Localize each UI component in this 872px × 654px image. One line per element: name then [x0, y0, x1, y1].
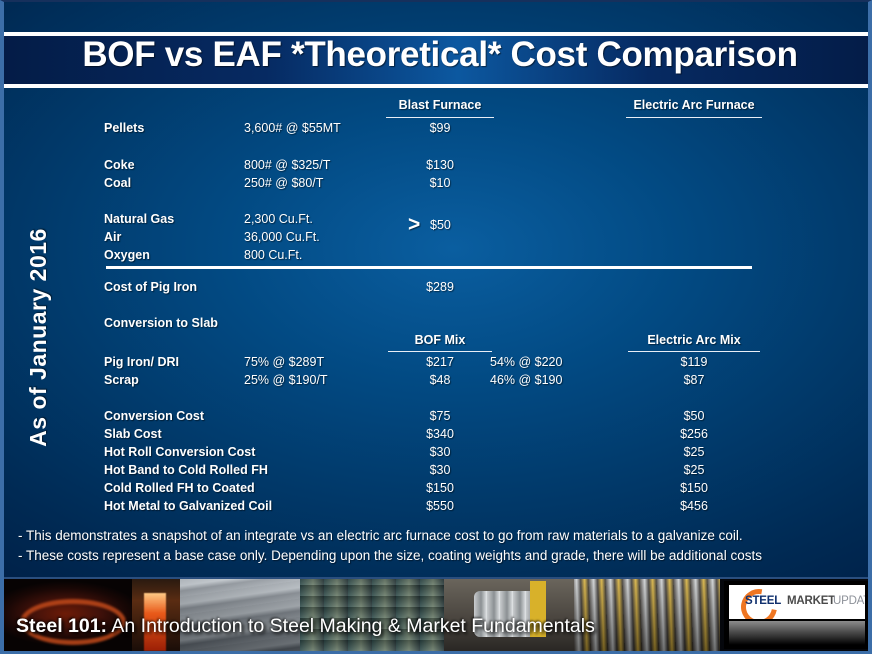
row-eaf-value: $150 — [629, 481, 759, 495]
footnote-2: - These costs represent a base case only… — [18, 546, 868, 566]
table-row: Slab Cost $340 $256 — [4, 427, 872, 445]
row-bf-value: $48 — [376, 373, 504, 387]
row-eaf-value: $456 — [629, 499, 759, 513]
row-mid-value: 54% @ $220 — [490, 355, 630, 369]
logo-plate: STEEL MARKET UPDATE — [729, 585, 865, 619]
row-item: Pellets — [104, 121, 254, 135]
banner-title-bold: Steel 101: — [16, 615, 107, 637]
table-row: Scrap 25% @ $190/T $48 46% @ $190 $87 — [4, 373, 872, 391]
underline-bof-mix — [388, 351, 492, 352]
page-title: BOF vs EAF *Theoretical* Cost Comparison — [4, 35, 872, 75]
row-item: Coke — [104, 158, 254, 172]
logo-word-steel: STEEL — [745, 595, 781, 607]
table-row: Hot Band to Cold Rolled FH $30 $25 — [4, 463, 872, 481]
row-item: Coal — [104, 176, 254, 190]
underline-electric-arc-mix — [628, 351, 760, 352]
row-spec: 800 Cu.Ft. — [244, 248, 404, 262]
row-item: Conversion to Slab — [104, 316, 254, 330]
table-row: Cold Rolled FH to Coated $150 $150 — [4, 481, 872, 499]
table-row: Hot Metal to Galvanized Coil $550 $456 — [4, 499, 872, 517]
row-item: Air — [104, 230, 254, 244]
footnotes: - This demonstrates a snapshot of an int… — [18, 526, 868, 566]
row-item: Slab Cost — [104, 427, 254, 441]
footnote-1: - This demonstrates a snapshot of an int… — [18, 526, 868, 546]
table-row: Air 36,000 Cu.Ft. — [4, 230, 872, 248]
row-eaf-value: $25 — [629, 463, 759, 477]
row-item: Hot Roll Conversion Cost — [104, 445, 254, 459]
underline-electric-arc-furnace — [626, 117, 762, 118]
row-item: Scrap — [104, 373, 254, 387]
table-row: Oxygen 800 Cu.Ft. — [4, 248, 872, 266]
row-item: Hot Band to Cold Rolled FH — [104, 463, 254, 477]
row-eaf-value: $119 — [629, 355, 759, 369]
slide-title-band: BOF vs EAF *Theoretical* Cost Comparison — [4, 32, 872, 88]
row-bf-value: $289 — [376, 280, 504, 294]
row-bf-value: $150 — [376, 481, 504, 495]
group-brace-icon: > — [408, 214, 420, 235]
row-eaf-value: $87 — [629, 373, 759, 387]
col-header-blast-furnace: Blast Furnace — [376, 98, 504, 112]
row-item: Natural Gas — [104, 212, 254, 226]
logo-word-market: MARKET — [787, 595, 835, 607]
row-bf-value: $75 — [376, 409, 504, 423]
banner-image-rebar — [574, 579, 720, 651]
row-eaf-value: $50 — [629, 409, 759, 423]
row-item: Cost of Pig Iron — [104, 280, 254, 294]
gas-group-value: $50 — [430, 218, 451, 232]
banner-title: Steel 101: An Introduction to Steel Maki… — [16, 615, 595, 638]
slide-canvas: BOF vs EAF *Theoretical* Cost Comparison… — [0, 0, 872, 654]
table-row: Conversion to Slab — [4, 316, 872, 334]
table-row: Coke 800# @ $325/T $130 — [4, 158, 872, 176]
row-item: Cold Rolled FH to Coated — [104, 481, 254, 495]
logo-word-update: UPDATE — [833, 595, 865, 607]
cost-comparison-table: Blast Furnace Electric Arc Furnace Pelle… — [4, 88, 872, 518]
row-bf-value: $10 — [376, 176, 504, 190]
row-bf-value: $340 — [376, 427, 504, 441]
row-spec: 36,000 Cu.Ft. — [244, 230, 404, 244]
table-row: Coal 250# @ $80/T $10 — [4, 176, 872, 194]
row-bf-value: $217 — [376, 355, 504, 369]
row-bf-value: $30 — [376, 445, 504, 459]
row-spec: 2,300 Cu.Ft. — [244, 212, 404, 226]
table-row: Pellets 3,600# @ $55MT $99 — [4, 121, 872, 139]
row-bf-value: $550 — [376, 499, 504, 513]
table-row: Hot Roll Conversion Cost $30 $25 — [4, 445, 872, 463]
row-bf-value: $99 — [376, 121, 504, 135]
row-eaf-value: $256 — [629, 427, 759, 441]
table-row: Cost of Pig Iron $289 — [4, 280, 872, 298]
col-header-bof-mix: BOF Mix — [376, 333, 504, 347]
logo-reflection — [729, 621, 865, 645]
row-item: Oxygen — [104, 248, 254, 262]
underline-blast-furnace — [386, 117, 494, 118]
row-bf-value: $30 — [376, 463, 504, 477]
row-mid-value: 46% @ $190 — [490, 373, 630, 387]
row-item: Hot Metal to Galvanized Coil — [104, 499, 254, 513]
table-header-row-furnace: Blast Furnace Electric Arc Furnace — [4, 98, 872, 116]
col-header-electric-arc-mix: Electric Arc Mix — [629, 333, 759, 347]
col-header-electric-arc-furnace: Electric Arc Furnace — [629, 98, 759, 112]
table-row: Conversion Cost $75 $50 — [4, 409, 872, 427]
steel-market-update-logo[interactable]: STEEL MARKET UPDATE — [724, 581, 870, 649]
banner-title-rest: An Introduction to Steel Making & Market… — [107, 615, 595, 637]
table-header-row-mix: BOF Mix Electric Arc Mix — [4, 333, 872, 351]
bottom-banner: Steel 101: An Introduction to Steel Maki… — [4, 577, 872, 651]
row-bf-value: $130 — [376, 158, 504, 172]
row-item: Conversion Cost — [104, 409, 254, 423]
row-item: Pig Iron/ DRI — [104, 355, 254, 369]
pig-iron-separator-rule — [106, 266, 752, 269]
row-eaf-value: $25 — [629, 445, 759, 459]
table-row: Pig Iron/ DRI 75% @ $289T $217 54% @ $22… — [4, 355, 872, 373]
